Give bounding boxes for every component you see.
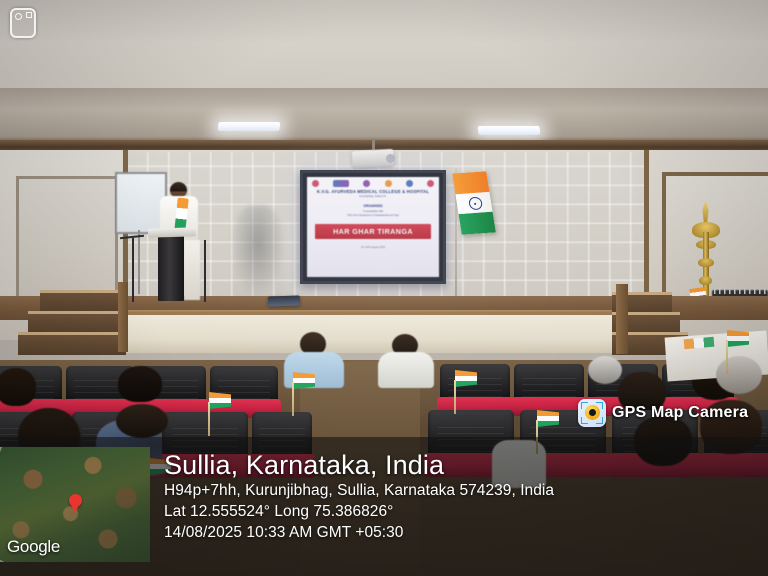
audience-person [116,404,168,438]
slide-logo-5 [406,180,413,187]
gps-timestamp: 14/08/2025 10:33 AM GMT +05:30 [164,523,760,544]
stage-post-left [118,282,128,352]
podium [158,233,184,301]
ceiling-light-left [218,122,281,131]
google-logo-label: Google [7,537,60,557]
slide-event-sub2: NSS Unit & Department of Swasthavritta a… [307,215,439,218]
mini-indian-flag-icon [293,372,315,389]
stage-post-right [616,284,628,354]
slide-logo-row [307,177,439,187]
left-door [16,176,118,306]
ashoka-chakra-icon [468,197,483,211]
gps-address: H94p+7hh, Kurunjibhag, Sullia, Karnataka… [164,481,760,502]
flag-white-band [455,192,492,215]
pin-eye-icon [585,405,600,420]
map-thumbnail[interactable]: Google [0,447,150,562]
slide-footer: On 14th August 2025 [307,246,439,249]
slide-logo-6 [427,180,434,187]
slide-logo-2 [333,180,349,187]
flag-green-band [459,212,496,235]
microphone-stand-right [204,240,206,302]
presentation-slide: K.V.G. AYURVEDA MEDICAL COLLEGE & HOSPIT… [307,177,439,277]
gps-text-block: Sullia, Karnataka, India H94p+7hh, Kurun… [150,437,768,576]
gps-map-camera-logo-icon [578,399,606,427]
step [18,332,126,355]
speaker-legs [184,240,200,300]
gps-map-camera-watermark: GPS Map Camera [578,399,748,427]
slide-institution-sub: Kurunjibhag, Sullia D.K. [307,195,439,198]
audience-person [716,356,762,394]
slide-institution: K.V.G. AYURVEDA MEDICAL COLLEGE & HOSPIT… [307,189,439,194]
slide-logo-1 [312,180,319,187]
mini-indian-flag-icon [537,410,559,427]
flag-saffron-band [452,171,489,194]
mini-indian-flag-icon [455,370,477,387]
lamp-tier-3 [699,276,712,285]
lamp-tier-2 [698,258,714,267]
camera-lens-icon [15,13,22,20]
ceiling-light-right [478,126,541,135]
photo-canvas: K.V.G. AYURVEDA MEDICAL COLLEGE & HOSPIT… [0,0,768,576]
mini-indian-flag-icon [209,392,231,409]
watermark-label: GPS Map Camera [612,404,748,422]
whiteboard-stand [138,230,140,294]
camera-icon[interactable] [10,8,36,38]
microphone-stand-left [132,238,134,302]
audience-person [0,368,36,406]
slide-logo-4 [385,180,392,187]
tablet-device [268,295,300,306]
slide-event-sub: In association with [307,210,439,213]
camera-flash-icon [26,12,32,18]
wall-shadow [232,205,284,301]
map-pin-icon [69,494,82,507]
gps-place-name: Sullia, Karnataka, India [164,451,760,479]
podium-top [148,227,196,237]
mixer-knobs [714,288,766,294]
projector-lens [386,154,395,163]
slide-event-line: ORGANISED [307,204,439,208]
gps-coordinates: Lat 12.555524° Long 75.386826° [164,502,760,523]
audience-person [588,356,622,384]
slide-banner-title: HAR GHAR TIRANGA [315,224,431,239]
wall-divider-right [644,150,649,302]
slide-logo-3 [363,180,370,187]
gps-info-overlay: Google Sullia, Karnataka, India H94p+7hh… [0,437,768,576]
audience-person [378,352,434,388]
projection-screen: K.V.G. AYURVEDA MEDICAL COLLEGE & HOSPIT… [300,170,446,284]
stage-steps-left [18,290,126,352]
ceiling [0,0,768,96]
mini-indian-flag-icon [727,330,749,347]
stage-front-panel [122,312,622,353]
audience-person [118,366,162,402]
